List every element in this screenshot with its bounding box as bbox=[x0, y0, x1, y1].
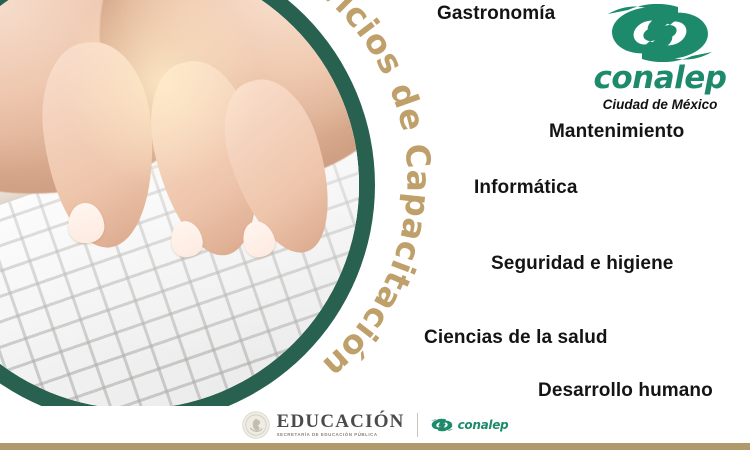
conalep-brand-block: conalep Ciudad de México bbox=[581, 4, 739, 112]
course-item-mantenimiento[interactable]: Mantenimiento bbox=[549, 121, 684, 143]
photo-scene bbox=[0, 0, 359, 409]
keyboard-photo bbox=[0, 0, 359, 409]
course-item-ciencias-de-la-salud[interactable]: Ciencias de la salud bbox=[424, 327, 608, 349]
poster-canvas: Servicios de Capacitación Gastronomía Ma… bbox=[0, 0, 750, 450]
course-item-informatica[interactable]: Informática bbox=[474, 177, 578, 199]
educacion-lockup: EDUCACIÓN SECRETARÍA DE EDUCACIÓN PÚBLIC… bbox=[242, 411, 405, 439]
footer-divider bbox=[417, 413, 418, 437]
educacion-subtitle: SECRETARÍA DE EDUCACIÓN PÚBLICA bbox=[277, 433, 405, 437]
mexico-government-seal-icon bbox=[242, 411, 270, 439]
conalep-logo-icon bbox=[430, 417, 454, 433]
course-item-seguridad-e-higiene[interactable]: Seguridad e higiene bbox=[491, 253, 673, 275]
educacion-title: EDUCACIÓN bbox=[277, 412, 405, 431]
conalep-logo-icon bbox=[604, 4, 716, 62]
course-item-desarrollo-humano[interactable]: Desarrollo humano bbox=[538, 380, 713, 402]
course-item-gastronomia[interactable]: Gastronomía bbox=[437, 3, 555, 25]
footer-conalep-wordmark: conalep bbox=[458, 418, 509, 432]
educacion-text: EDUCACIÓN SECRETARÍA DE EDUCACIÓN PÚBLIC… bbox=[277, 412, 405, 437]
photo-circle-frame bbox=[0, 0, 375, 425]
footer-lockups: EDUCACIÓN SECRETARÍA DE EDUCACIÓN PÚBLIC… bbox=[242, 411, 509, 439]
conalep-wordmark: conalep bbox=[581, 60, 739, 96]
conalep-subtitle: Ciudad de México bbox=[581, 97, 739, 112]
footer-conalep-lockup: conalep bbox=[430, 417, 509, 433]
accent-bottom-bar bbox=[0, 443, 750, 450]
